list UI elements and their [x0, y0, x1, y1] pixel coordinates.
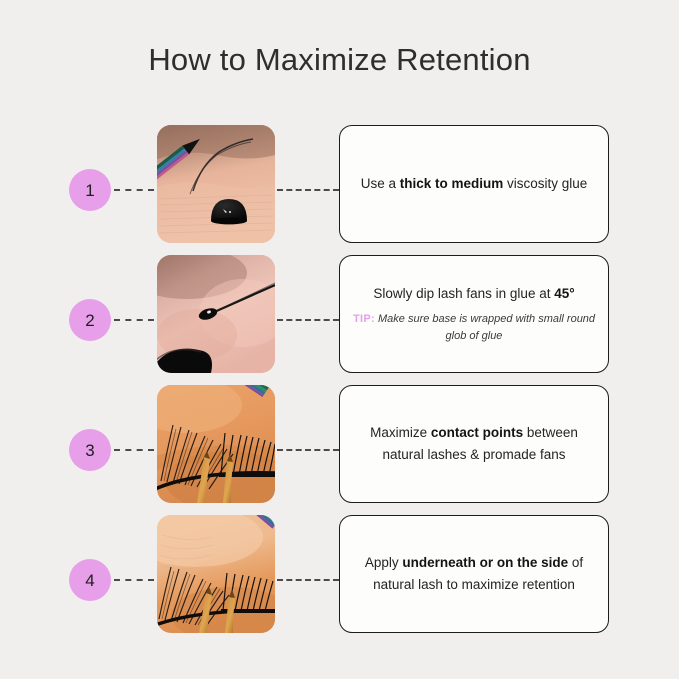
step-row: 1: [0, 125, 679, 255]
connector-dash-left: [114, 319, 154, 321]
step-row: 4: [0, 515, 679, 645]
step-card: Slowly dip lash fans in glue at 45° TIP:…: [339, 255, 609, 373]
step-thumbnail-lash-extension-contact-points: [157, 385, 275, 503]
step-number-label: 2: [85, 312, 94, 329]
step-card-text: Use a thick to medium viscosity glue: [361, 173, 588, 195]
step-card: Maximize contact points between natural …: [339, 385, 609, 503]
text-segment: Use a: [361, 176, 400, 191]
connector-dash-right: [277, 189, 339, 191]
tip-text: Make sure base is wrapped with small rou…: [378, 313, 595, 342]
steps-list: 1: [0, 125, 679, 645]
step-thumbnail-tweezers-with-lash-fan-and-glue-drop: [157, 125, 275, 243]
step-number-label: 4: [85, 572, 94, 589]
step-number-badge: 2: [69, 299, 111, 341]
connector-dash-right: [277, 449, 339, 451]
text-segment: Maximize: [370, 425, 431, 440]
step-number-badge: 1: [69, 169, 111, 211]
text-segment: Slowly dip lash fans in glue at: [373, 286, 554, 301]
tip-label: TIP:: [353, 313, 375, 325]
text-segment-bold: 45°: [554, 286, 574, 301]
connector-dash-right: [277, 579, 339, 581]
step-thumbnail-lash-applied-underneath-natural-lash: [157, 515, 275, 633]
step-number-badge: 3: [69, 429, 111, 471]
step-card-tip: TIP: Make sure base is wrapped with smal…: [352, 311, 596, 345]
step-thumbnail-lash-fan-dipped-in-glue: [157, 255, 275, 373]
connector-dash-left: [114, 579, 154, 581]
step-card-text: Maximize contact points between natural …: [352, 422, 596, 466]
step-row: 2: [0, 255, 679, 385]
step-number-badge: 4: [69, 559, 111, 601]
text-segment-bold: thick to medium: [400, 176, 504, 191]
text-segment-bold: underneath or on the side: [402, 555, 568, 570]
step-card: Apply underneath or on the side of natur…: [339, 515, 609, 633]
connector-dash-right: [277, 319, 339, 321]
step-card-text: Slowly dip lash fans in glue at 45°: [373, 283, 574, 305]
text-segment-bold: contact points: [431, 425, 523, 440]
connector-dash-left: [114, 449, 154, 451]
step-number-label: 1: [85, 182, 94, 199]
step-card-text: Apply underneath or on the side of natur…: [352, 552, 596, 596]
infographic-page: How to Maximize Retention 1: [0, 0, 679, 679]
step-row: 3: [0, 385, 679, 515]
page-title: How to Maximize Retention: [0, 42, 679, 78]
connector-dash-left: [114, 189, 154, 191]
step-number-label: 3: [85, 442, 94, 459]
text-segment: viscosity glue: [503, 176, 587, 191]
text-segment: Apply: [365, 555, 403, 570]
step-card: Use a thick to medium viscosity glue: [339, 125, 609, 243]
